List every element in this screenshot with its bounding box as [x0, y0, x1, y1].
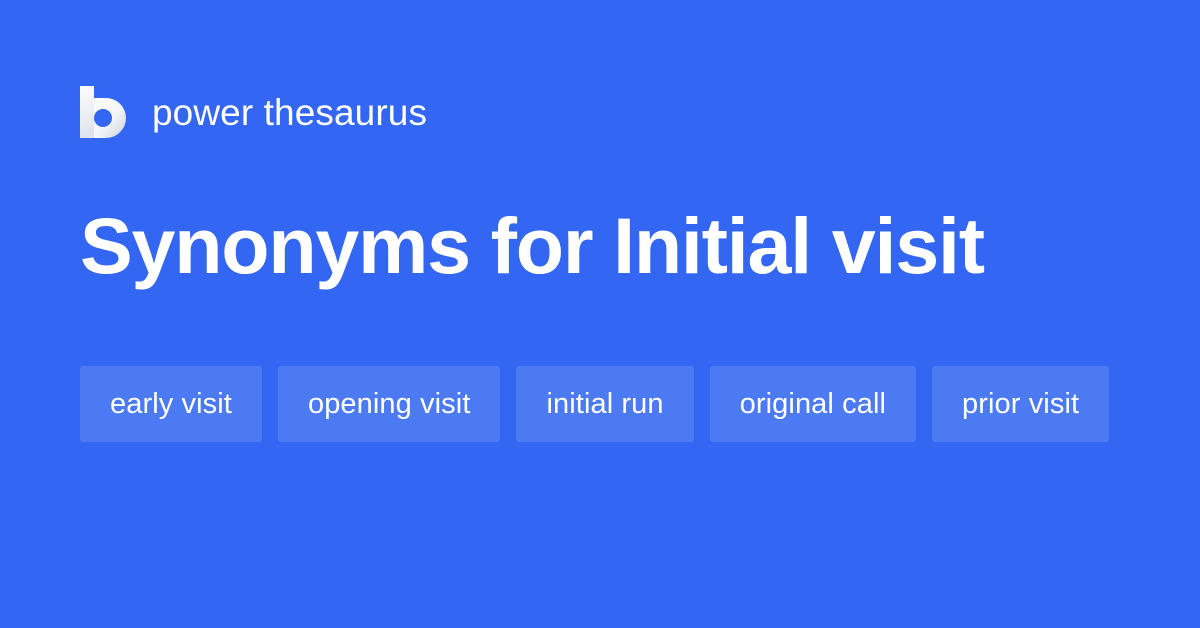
- brand-header[interactable]: power thesaurus: [80, 84, 427, 140]
- synonym-chip[interactable]: initial run: [516, 366, 693, 442]
- share-card: power thesaurus Synonyms for Initial vis…: [0, 0, 1200, 628]
- synonym-chip[interactable]: prior visit: [932, 366, 1109, 442]
- power-thesaurus-b-logo-icon: [80, 86, 126, 138]
- brand-name: power thesaurus: [152, 94, 427, 131]
- synonym-chip-list: early visit opening visit initial run or…: [80, 366, 1120, 442]
- synonym-chip[interactable]: opening visit: [278, 366, 501, 442]
- page-title: Synonyms for Initial visit: [80, 198, 984, 294]
- synonym-chip[interactable]: original call: [710, 366, 916, 442]
- synonym-chip[interactable]: early visit: [80, 366, 262, 442]
